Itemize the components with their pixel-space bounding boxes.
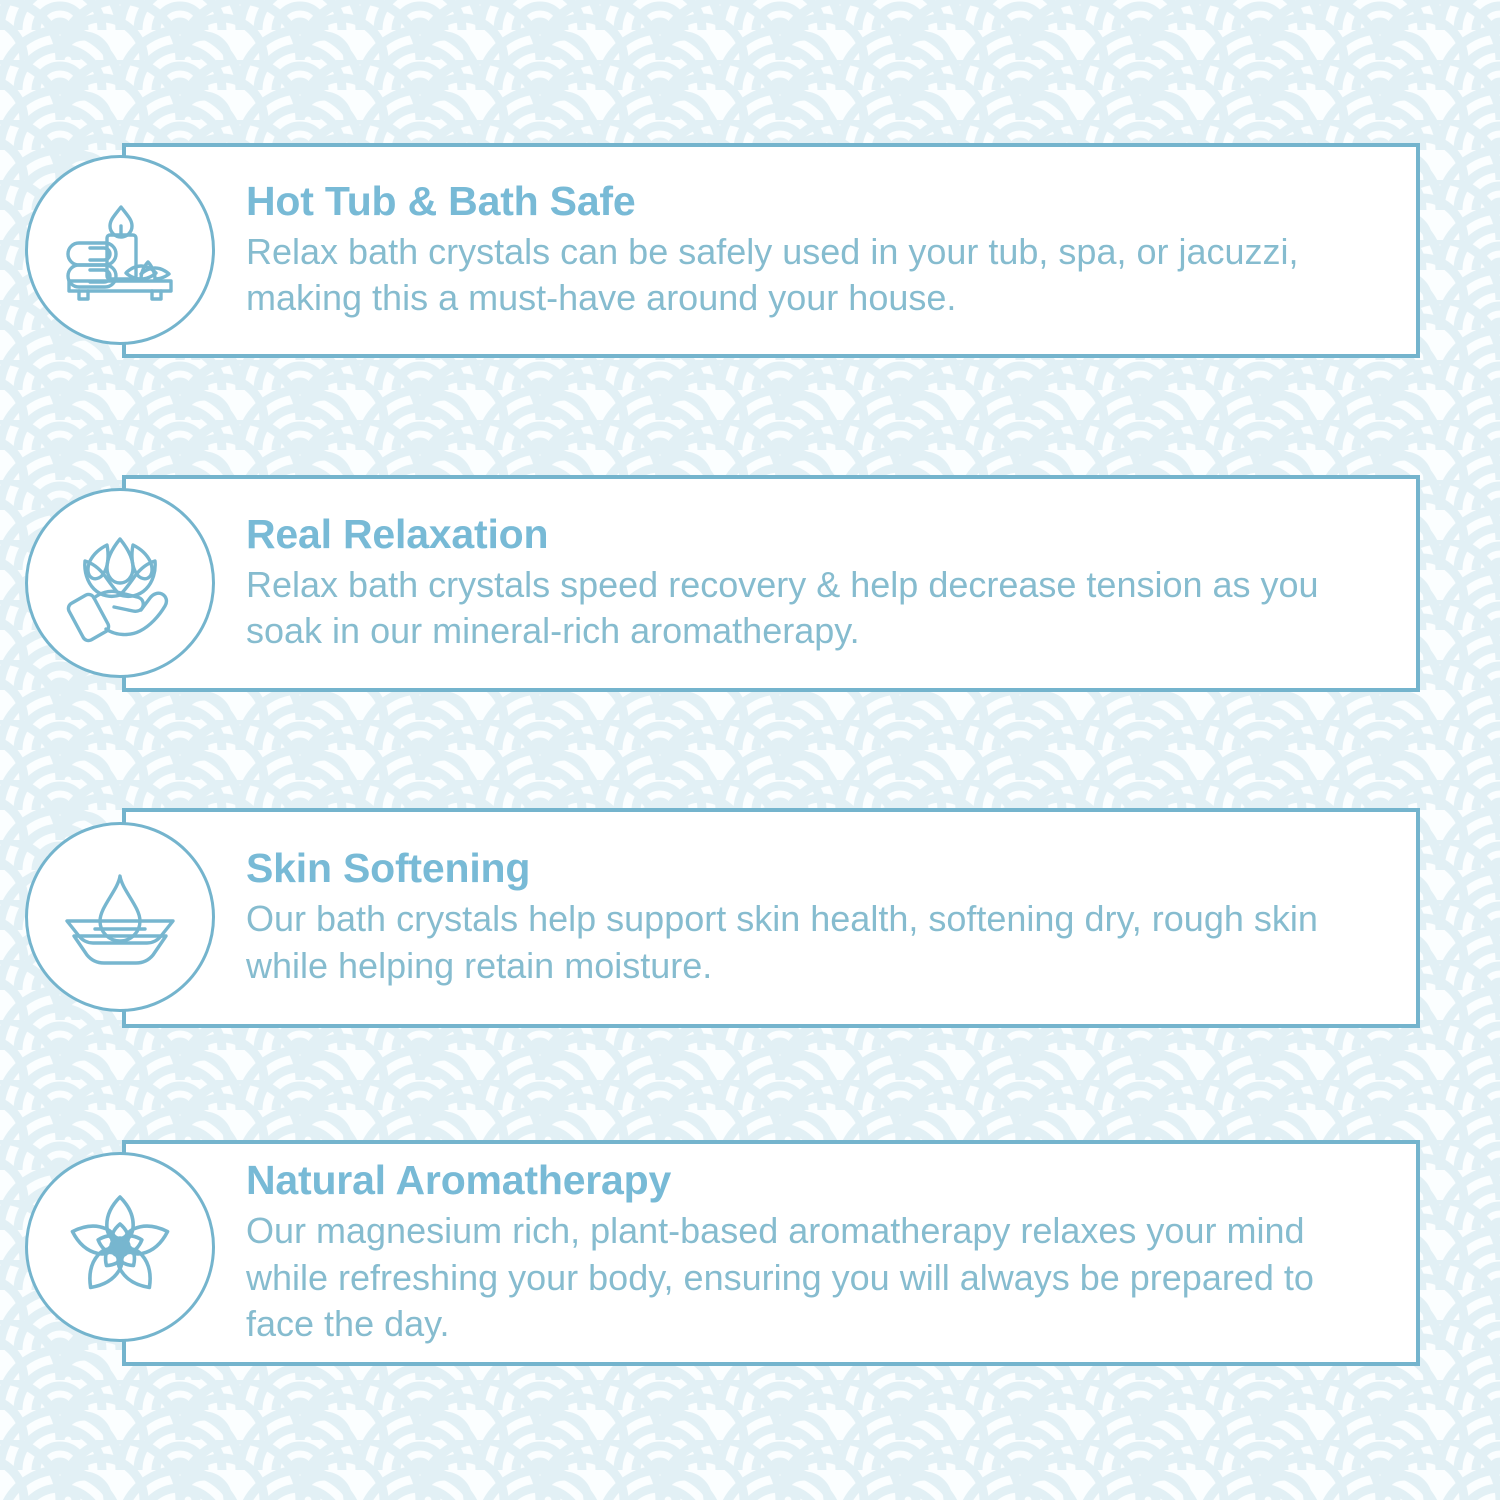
feature-description: Our magnesium rich, plant-based aromathe…	[246, 1208, 1376, 1348]
feature-title: Real Relaxation	[246, 512, 1376, 558]
five-petal-flower-icon	[25, 1152, 215, 1342]
feature-card-natural-aromatherapy: Natural Aromatherapy Our magnesium rich,…	[122, 1140, 1420, 1366]
benefits-infographic: Hot Tub & Bath Safe Relax bath crystals …	[0, 0, 1500, 1500]
spa-candle-towels-icon	[25, 155, 215, 345]
feature-card-skin-softening: Skin Softening Our bath crystals help su…	[122, 808, 1420, 1028]
feature-card-hot-tub-bath-safe: Hot Tub & Bath Safe Relax bath crystals …	[122, 143, 1420, 358]
feature-card-real-relaxation: Real Relaxation Relax bath crystals spee…	[122, 475, 1420, 692]
feature-title: Hot Tub & Bath Safe	[246, 179, 1376, 225]
feature-title: Natural Aromatherapy	[246, 1158, 1376, 1204]
feature-title: Skin Softening	[246, 846, 1376, 892]
feature-description: Relax bath crystals speed recovery & hel…	[246, 562, 1376, 656]
feature-description: Relax bath crystals can be safely used i…	[246, 229, 1376, 323]
hand-holding-lotus-icon	[25, 488, 215, 678]
water-droplet-lotus-bowl-icon	[25, 822, 215, 1012]
feature-description: Our bath crystals help support skin heal…	[246, 896, 1376, 990]
